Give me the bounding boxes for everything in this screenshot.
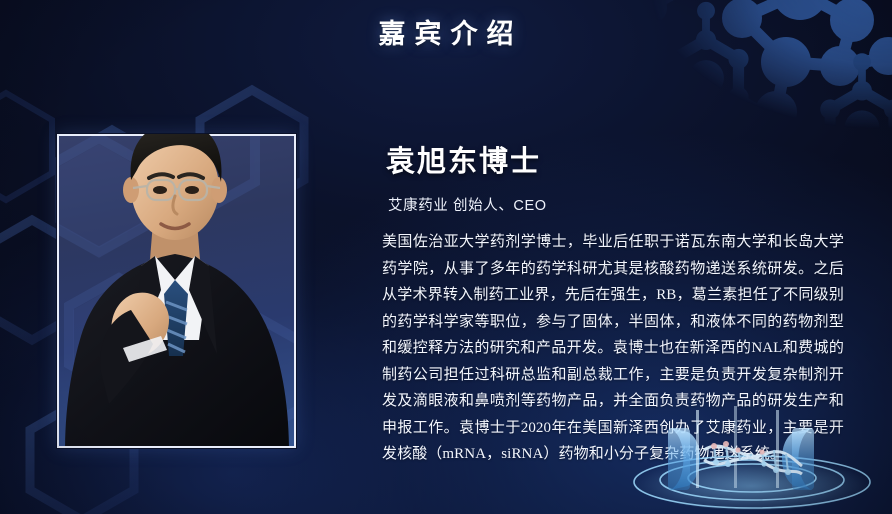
- speaker-portrait: [57, 134, 296, 448]
- speaker-name: 袁旭东博士: [386, 138, 844, 180]
- dna-helix-icon: [626, 404, 878, 514]
- speaker-role: 艾康药业 创始人、CEO: [388, 194, 844, 215]
- page-title: 嘉宾介绍: [0, 12, 892, 51]
- speaker-photo: [57, 104, 296, 448]
- slide-canvas: 嘉宾介绍: [0, 0, 892, 514]
